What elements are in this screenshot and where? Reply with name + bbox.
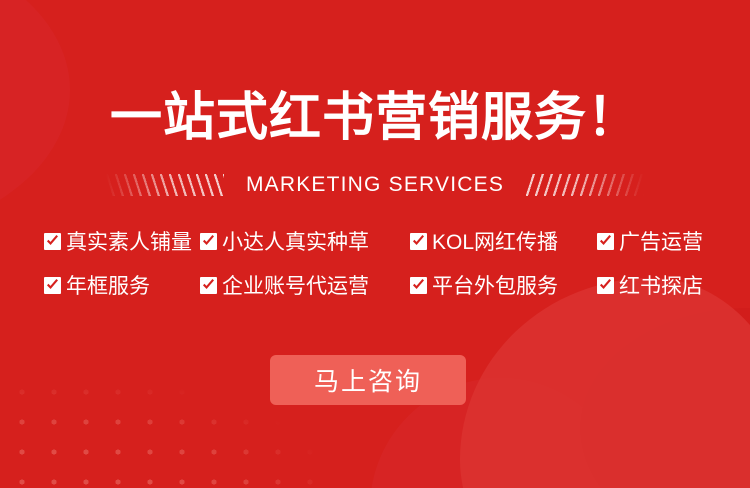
subtitle-row: MARKETING SERVICES: [0, 172, 750, 198]
consult-now-button[interactable]: 马上咨询: [270, 355, 466, 405]
subtitle: MARKETING SERVICES: [246, 173, 504, 197]
checkbox-checked-icon: [44, 277, 61, 294]
feature-label: 红书探店: [619, 270, 703, 300]
feature-item-account-management[interactable]: 企业账号代运营: [200, 270, 410, 300]
feature-label: 平台外包服务: [432, 270, 558, 300]
feature-item-real-user-volume[interactable]: 真实素人铺量: [44, 226, 200, 256]
feature-label: 真实素人铺量: [66, 226, 192, 256]
feature-row: 真实素人铺量 小达人真实种草 KOL网红传播 广告运营: [44, 226, 712, 256]
feature-item-platform-outsourcing[interactable]: 平台外包服务: [410, 270, 597, 300]
feature-label: 广告运营: [619, 226, 703, 256]
feature-list: 真实素人铺量 小达人真实种草 KOL网红传播 广告运营: [44, 226, 712, 314]
feature-item-kol-seeding[interactable]: 小达人真实种草: [200, 226, 410, 256]
slash-ornament-left-icon: [106, 174, 224, 196]
blob-decoration-mid: [580, 308, 750, 488]
checkbox-checked-icon: [597, 233, 614, 250]
checkbox-checked-icon: [200, 233, 217, 250]
page-title: 一站式红书营销服务！: [0, 92, 750, 144]
feature-item-annual-contract[interactable]: 年框服务: [44, 270, 200, 300]
feature-item-store-visit[interactable]: 红书探店: [597, 270, 703, 300]
checkbox-checked-icon: [200, 277, 217, 294]
feature-label: 企业账号代运营: [222, 270, 369, 300]
checkbox-checked-icon: [410, 277, 427, 294]
checkbox-checked-icon: [410, 233, 427, 250]
feature-label: 年框服务: [66, 270, 150, 300]
checkbox-checked-icon: [44, 233, 61, 250]
feature-item-kol-spread[interactable]: KOL网红传播: [410, 226, 597, 256]
checkbox-checked-icon: [597, 277, 614, 294]
slash-ornament-right-icon: [526, 174, 644, 196]
promo-banner: 一站式红书营销服务！ MARKETING SERVICES 真实素人铺量 小达人…: [0, 0, 750, 488]
feature-label: 小达人真实种草: [222, 226, 369, 256]
feature-label: KOL网红传播: [432, 226, 558, 256]
feature-row: 年框服务 企业账号代运营 平台外包服务 红书探店: [44, 270, 712, 300]
feature-item-ad-operation[interactable]: 广告运营: [597, 226, 703, 256]
